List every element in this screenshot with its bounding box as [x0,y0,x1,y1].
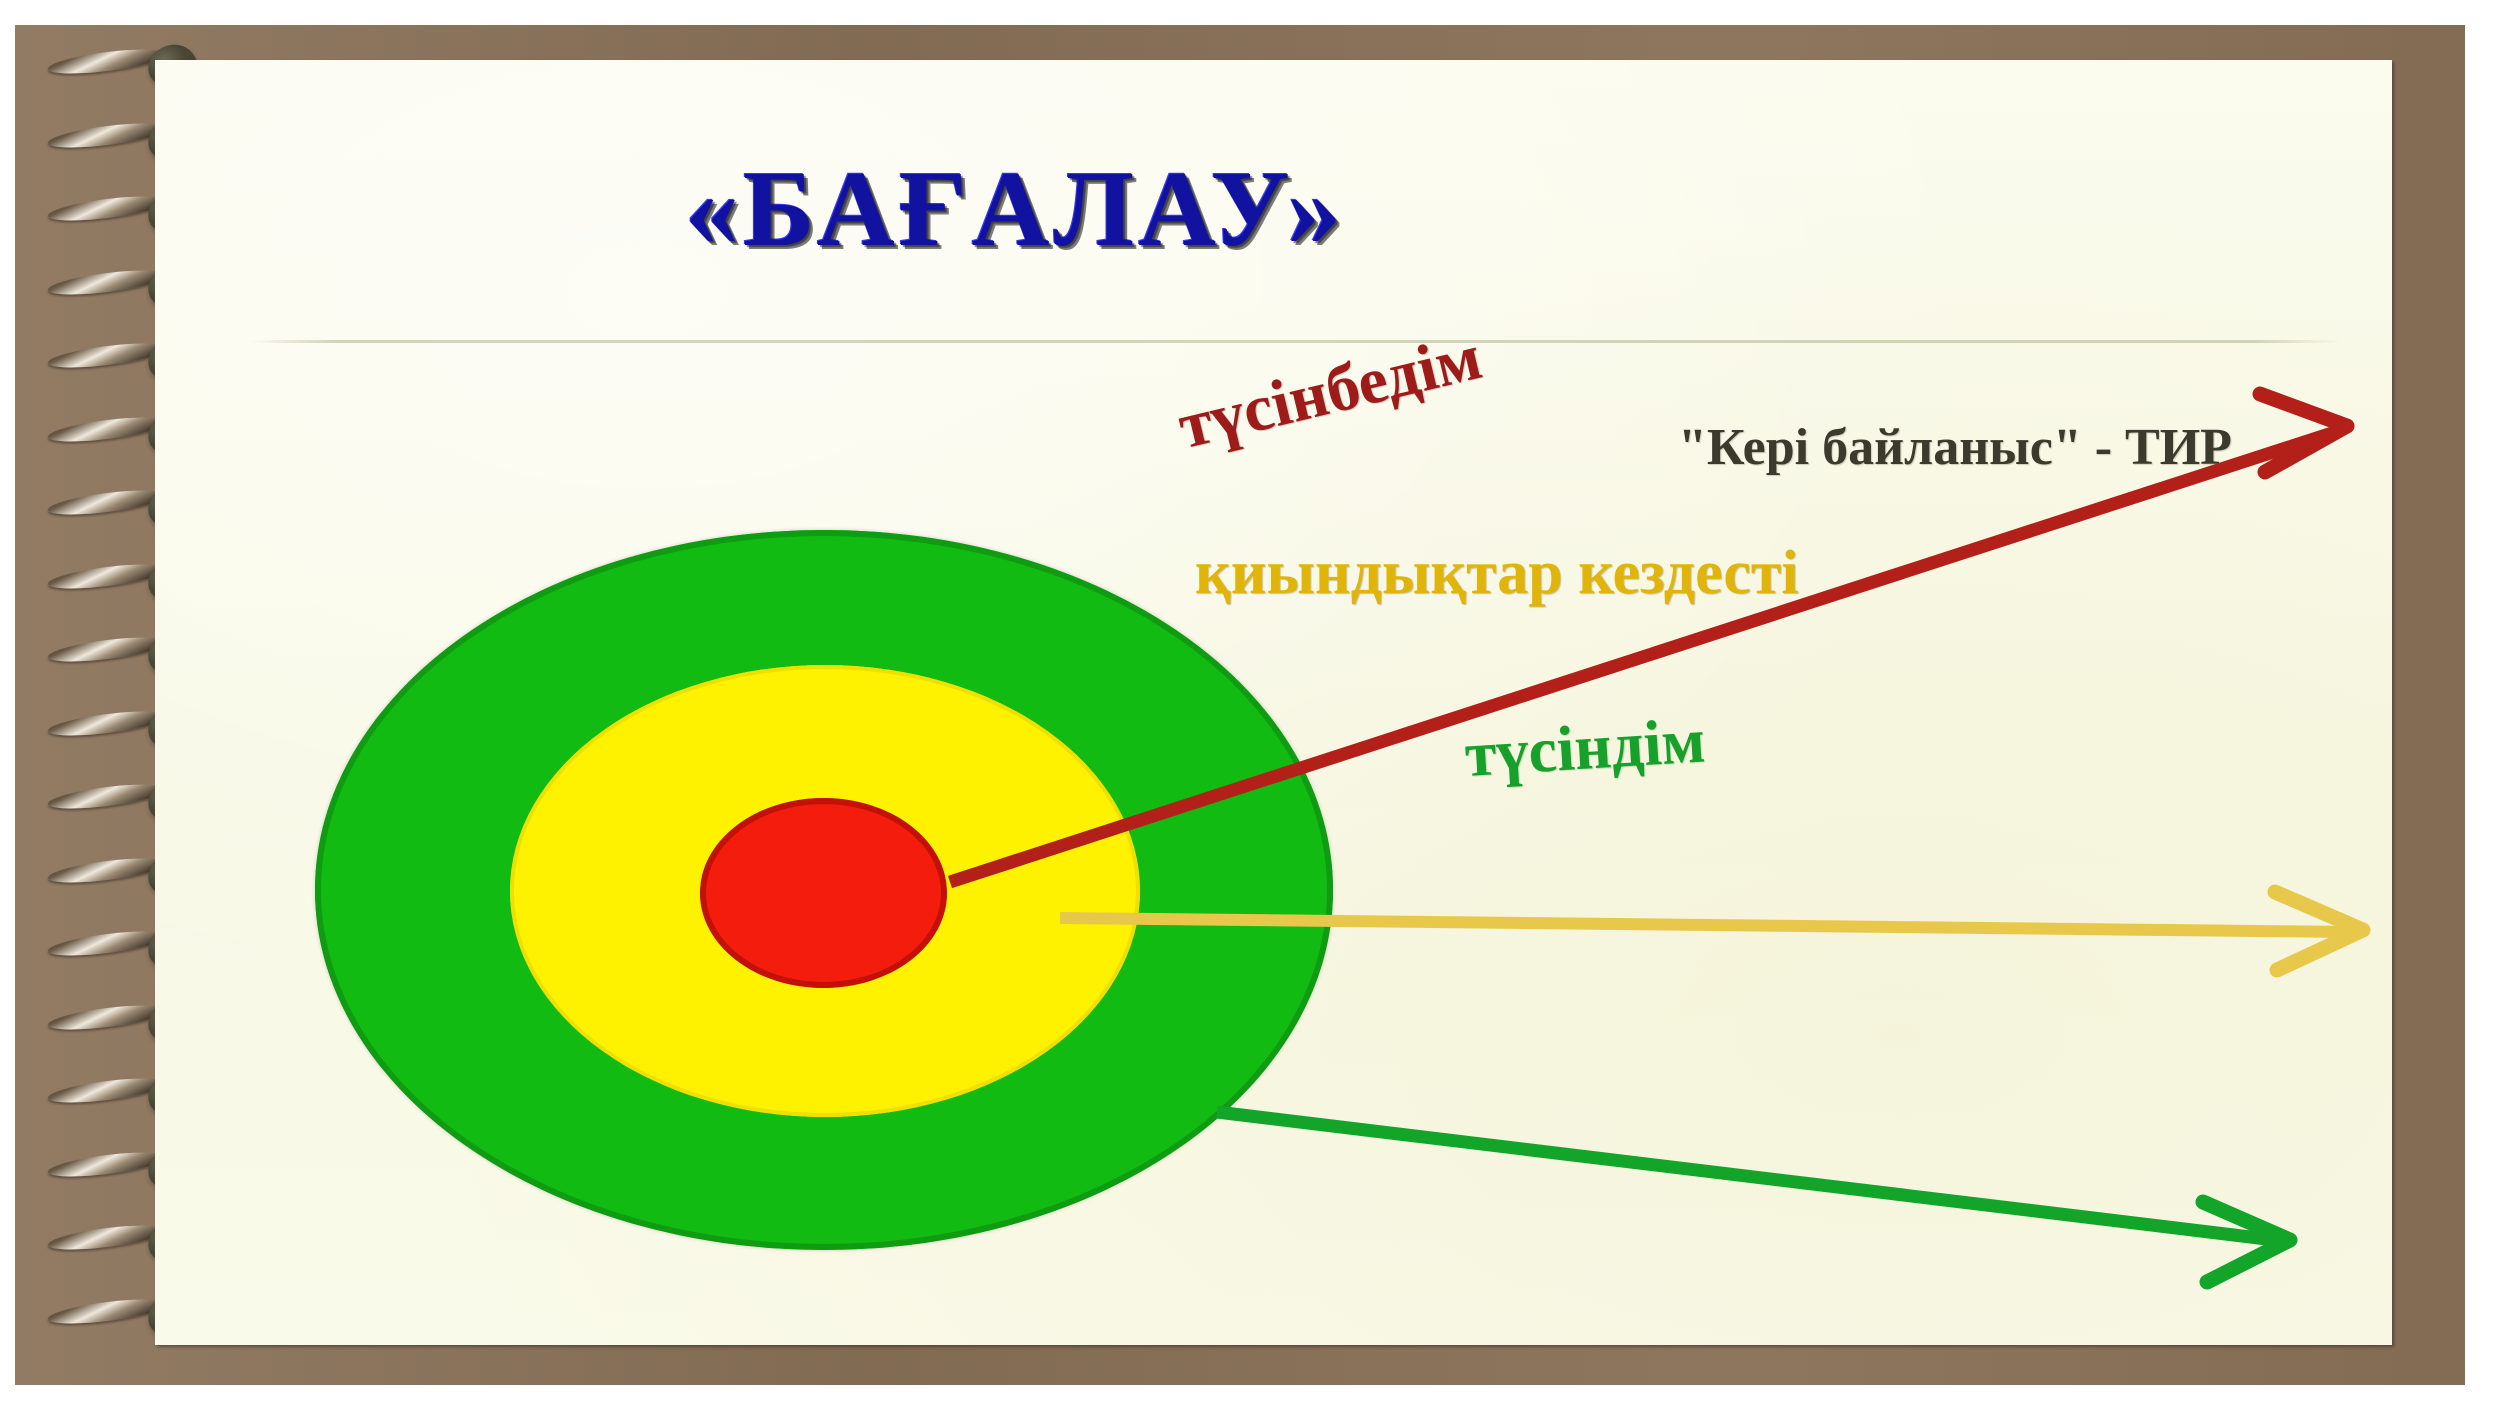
callout-label-green: түсіндім [1463,703,1707,792]
callout-label-yellow: қиындықтар кездесті [1195,538,1799,609]
inner-red-bullseye [700,798,947,988]
subtitle-feedback-tir: "Кері байланыс" - ТИР [1575,418,2335,477]
notebook-page: «БАҒАЛАУ» "Кері байланыс" - ТИР [155,60,2392,1345]
title-divider [250,340,2340,343]
arrow-green [1217,1112,2290,1282]
screenshot-canvas: «БАҒАЛАУ» "Кері байланыс" - ТИР [0,0,2500,1406]
page-title: «БАҒАЛАУ» [155,148,1875,272]
target-diagram [315,530,1335,1250]
